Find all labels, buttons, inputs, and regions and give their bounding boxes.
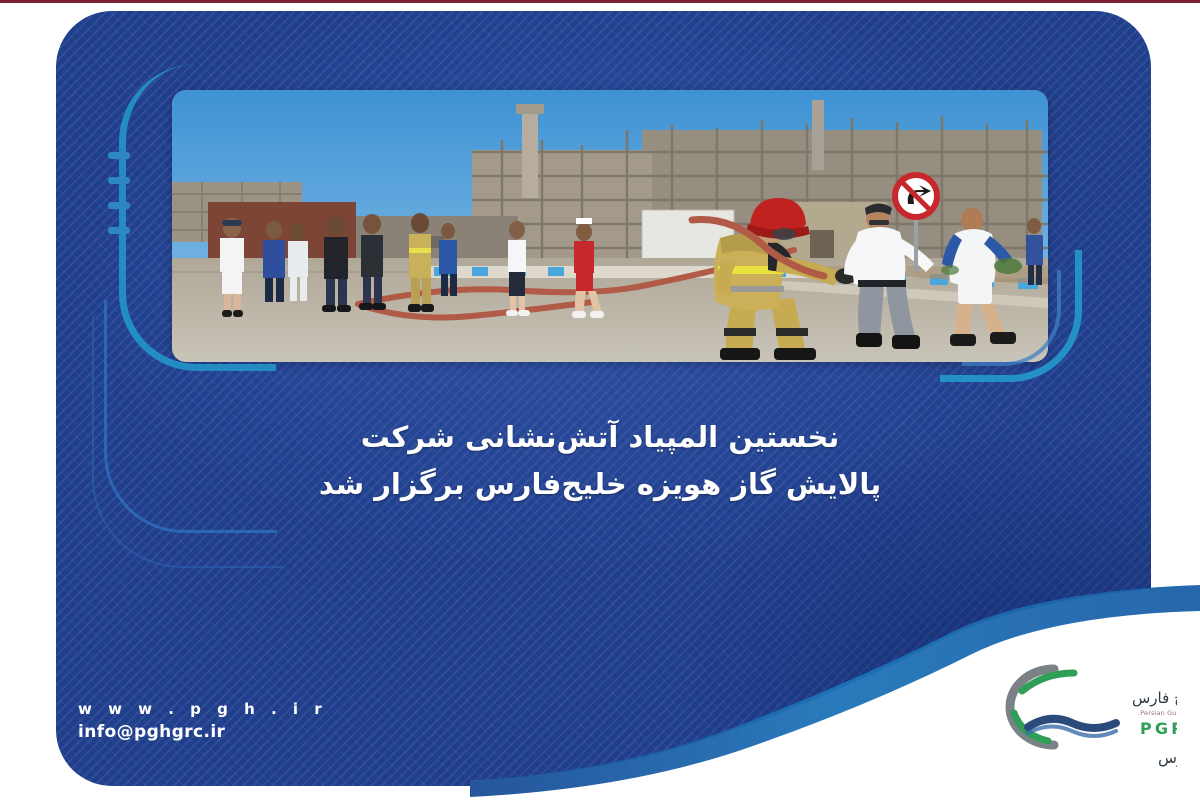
headline: نخستین المپیاد آتش‌نشانی شرکت پالایش گاز… xyxy=(0,414,1200,508)
top-rule-divider xyxy=(0,0,1200,3)
website-link[interactable]: w w w . p g h . i r xyxy=(78,700,327,718)
logo-subsidiary-name: شرکت پالایش گاز هویزه خلیج فارس xyxy=(1158,749,1177,768)
decorative-dash-marks-icon xyxy=(108,152,130,252)
poster-canvas: نخستین المپیاد آتش‌نشانی شرکت پالایش گاز… xyxy=(0,0,1200,800)
logo-acronym: PGPIC xyxy=(1140,719,1177,738)
headline-line-1: نخستین المپیاد آتش‌نشانی شرکت xyxy=(0,414,1200,461)
logo-persian-name: شرکت صنایع پتروشیمی خلیج فارس xyxy=(1132,689,1177,708)
pgpic-logo: شرکت صنایع پتروشیمی خلیج فارس Persian Gu… xyxy=(962,655,1177,780)
headline-line-2: پالایش گاز هویزه خلیج‌فارس برگزار شد xyxy=(0,461,1200,508)
event-photo xyxy=(172,90,1048,362)
email-link[interactable]: info@pghgrc.ir xyxy=(78,722,327,742)
contact-block: w w w . p g h . i r info@pghgrc.ir xyxy=(78,700,327,742)
logo-english-name: Persian Gulf Petrochemical Industries Co… xyxy=(1138,709,1177,717)
